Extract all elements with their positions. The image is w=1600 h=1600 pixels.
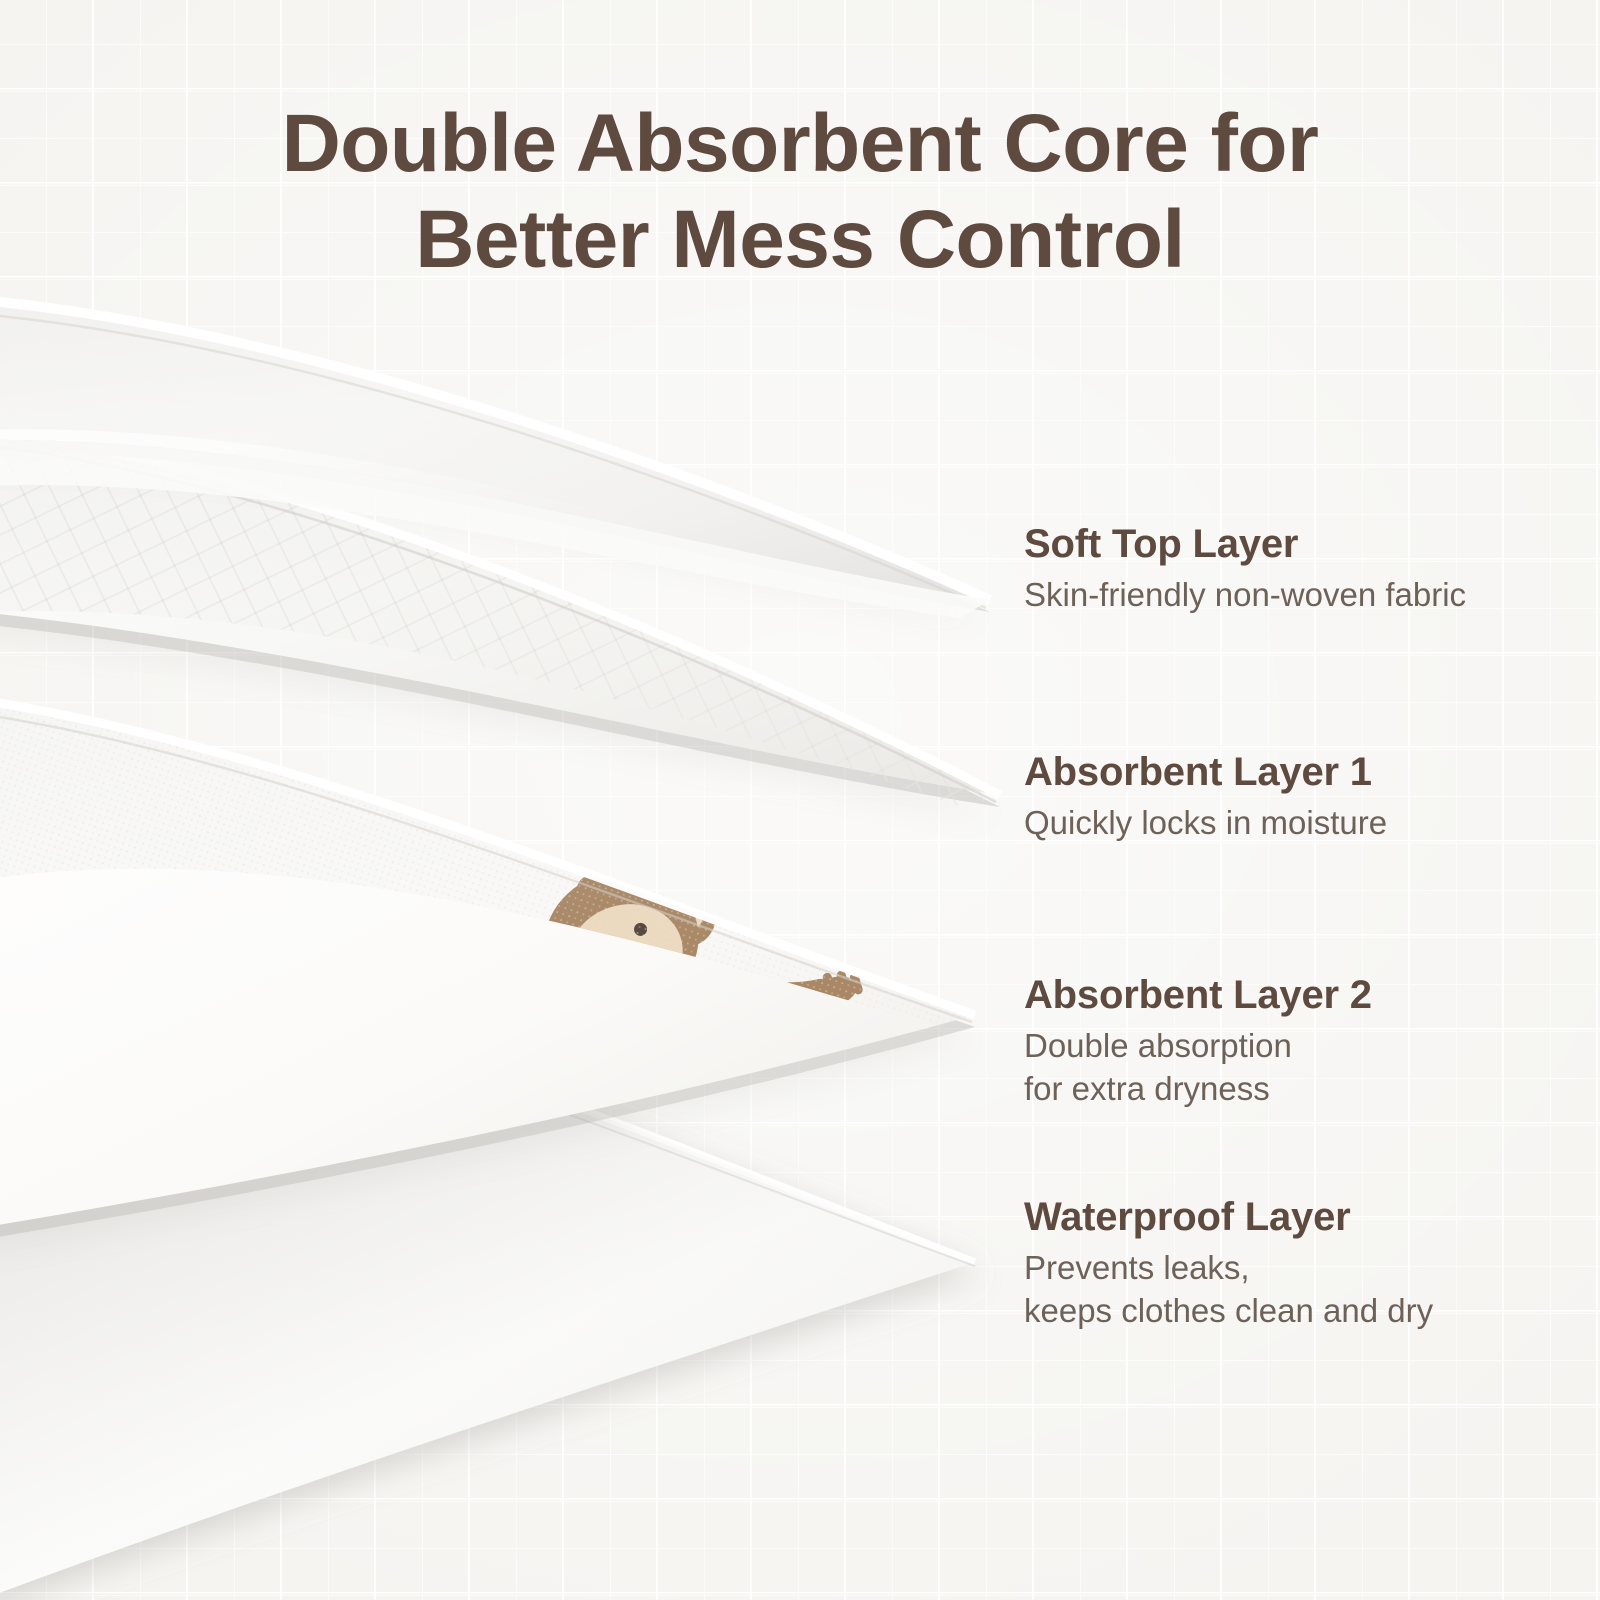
paper-grain-overlay bbox=[0, 280, 1040, 1600]
layer-title: Absorbent Layer 2 bbox=[1024, 971, 1584, 1019]
layer-label-absorbent-2: Absorbent Layer 2 Double absorption for … bbox=[1024, 971, 1584, 1110]
layer-title: Soft Top Layer bbox=[1024, 520, 1584, 568]
layer-description: Double absorption for extra dryness bbox=[1024, 1024, 1584, 1110]
layer-label-waterproof: Waterproof Layer Prevents leaks, keeps c… bbox=[1024, 1193, 1584, 1332]
layer-description: Prevents leaks, keeps clothes clean and … bbox=[1024, 1246, 1584, 1332]
layer-label-column: Soft Top Layer Skin-friendly non-woven f… bbox=[1024, 0, 1584, 1600]
layer-description: Quickly locks in moisture bbox=[1024, 801, 1584, 844]
layer-title: Absorbent Layer 1 bbox=[1024, 748, 1584, 796]
layer-description: Skin-friendly non-woven fabric bbox=[1024, 573, 1584, 616]
layer-label-soft-top: Soft Top Layer Skin-friendly non-woven f… bbox=[1024, 520, 1584, 616]
layer-title: Waterproof Layer bbox=[1024, 1193, 1584, 1241]
layer-label-absorbent-1: Absorbent Layer 1 Quickly locks in moist… bbox=[1024, 748, 1584, 844]
